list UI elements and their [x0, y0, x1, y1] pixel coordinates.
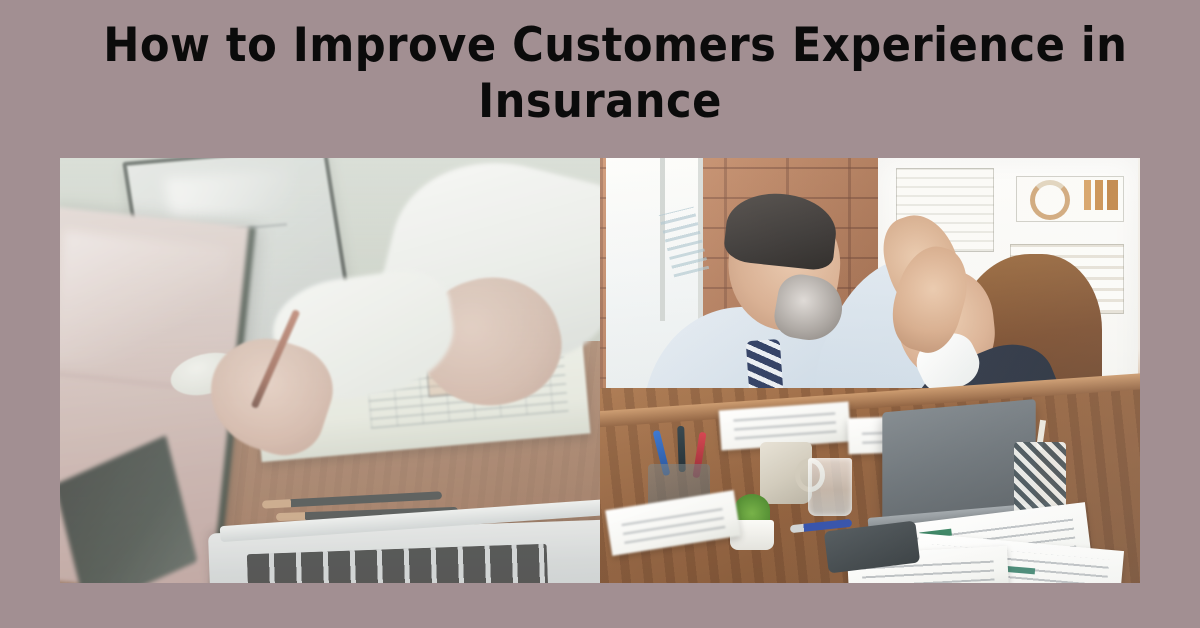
right-photo [600, 158, 1140, 583]
left-photo [60, 158, 600, 583]
photo-strip [60, 158, 1140, 583]
blog-header-banner: How to Improve Customers Experience in I… [0, 0, 1200, 628]
left-photo-desaturation-overlay [60, 158, 600, 583]
right-photo-light-wash [600, 158, 1140, 583]
page-title-line-2: Insurance [103, 74, 1097, 130]
page-title-line-1: How to Improve Customers Experience in [103, 18, 1097, 74]
page-title: How to Improve Customers Experience in I… [60, 18, 1140, 130]
